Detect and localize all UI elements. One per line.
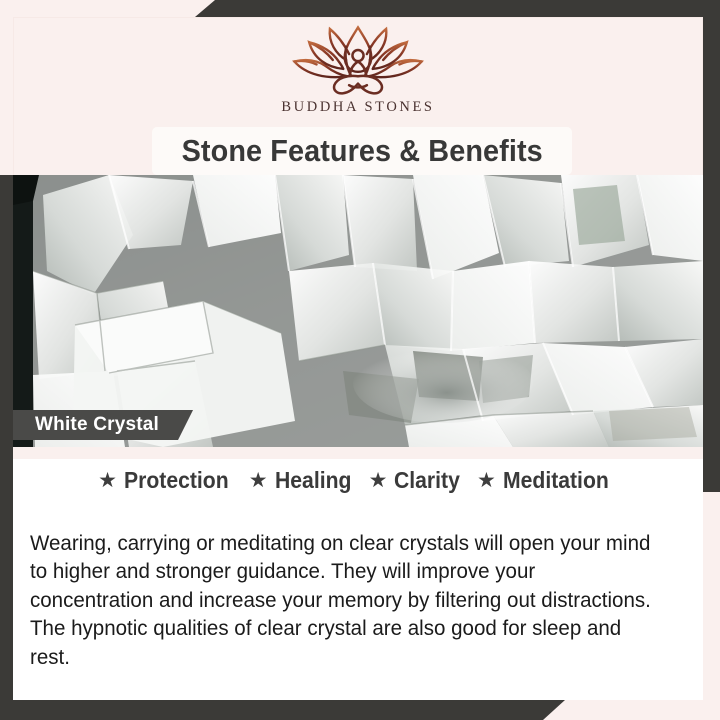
content-panel: ★ Protection ★ Healing ★ Clarity ★ Medit… [13, 459, 703, 700]
benefit-label: Meditation [503, 467, 609, 494]
benefit-item-meditation: ★ Meditation [477, 467, 618, 494]
frame-top-band [195, 0, 720, 17]
page-title: Stone Features & Benefits [181, 133, 542, 169]
white-crystal-cluster-photo [13, 175, 703, 447]
benefit-label: Healing [275, 467, 351, 494]
benefit-item-healing: ★ Healing [249, 467, 358, 494]
star-icon: ★ [98, 470, 117, 491]
frame-right-band [703, 0, 720, 492]
benefit-label: Clarity [394, 467, 460, 494]
benefit-item-protection: ★ Protection [98, 467, 238, 494]
star-icon: ★ [249, 470, 268, 491]
content-divider-strip [13, 447, 703, 459]
star-icon: ★ [477, 470, 496, 491]
infographic-card: BUDDHA STONES Stone Features & Benefits [0, 0, 720, 720]
benefit-label: Protection [124, 467, 229, 494]
description-text: Wearing, carrying or meditating on clear… [30, 529, 660, 672]
frame-bottom-band [0, 700, 565, 720]
stone-name-tag: White Crystal [13, 410, 193, 440]
lotus-meditation-icon [283, 23, 433, 97]
brand-header: BUDDHA STONES [13, 17, 703, 125]
page-title-banner: Stone Features & Benefits [152, 127, 572, 175]
brand-wordmark: BUDDHA STONES [281, 99, 434, 116]
benefits-list: ★ Protection ★ Healing ★ Clarity ★ Medit… [13, 467, 703, 494]
frame-left-band [0, 175, 13, 700]
star-icon: ★ [369, 470, 388, 491]
stone-photo: White Crystal [13, 175, 703, 447]
benefit-item-clarity: ★ Clarity [369, 467, 466, 494]
stone-name-label: White Crystal [35, 414, 159, 436]
